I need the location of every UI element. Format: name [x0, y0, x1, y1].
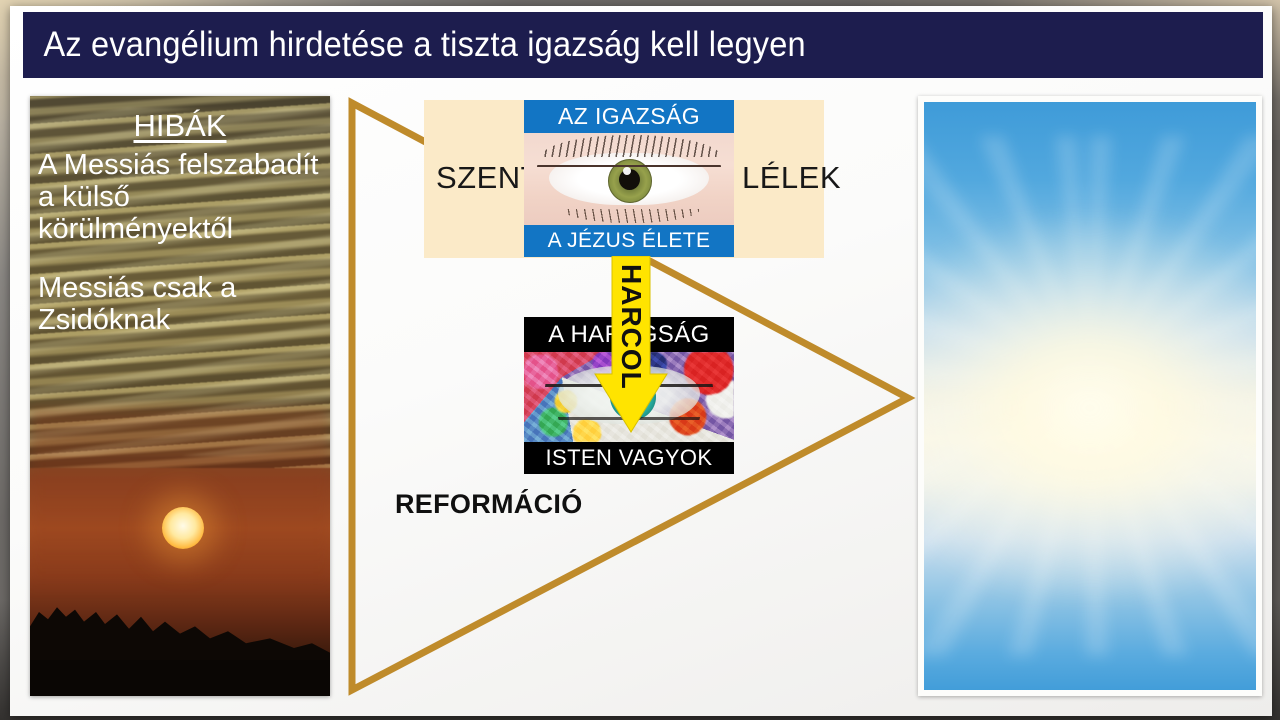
slide-title-bar: Az evangélium hirdetése a tiszta igazság… — [23, 12, 1263, 78]
left-panel-paragraph-2: Messiás csak a Zsidóknak — [38, 272, 322, 337]
band-isten-vagyok: ISTEN VAGYOK — [524, 442, 734, 474]
page-title: Az evangélium hirdetése a tiszta igazság… — [23, 25, 806, 65]
left-panel-heading: HIBÁK — [38, 110, 322, 143]
label-lelek: LÉLEK — [742, 160, 842, 196]
left-panel-paragraph-1: A Messiás felszabadít a külső körülménye… — [38, 149, 322, 246]
sunset-haze — [30, 408, 330, 588]
truth-eye-card: AZ IGAZSÁG A JÉZUS ÉLETE — [524, 100, 734, 257]
eye-lower-lashes — [562, 209, 701, 223]
ground-silhouette — [30, 660, 330, 696]
eye-lashes — [541, 135, 722, 157]
green-eye-photo — [524, 133, 734, 225]
label-szent: SZENT — [436, 160, 526, 196]
arrow-label-harcol: HARCOL — [615, 264, 647, 390]
sky-glow — [918, 218, 1262, 598]
right-image-panel — [918, 96, 1262, 696]
sun-disc-icon — [162, 507, 204, 549]
label-reformacio: REFORMÁCIÓ — [395, 489, 583, 520]
left-panel-text-block: HIBÁK A Messiás felszabadít a külső körü… — [30, 110, 330, 337]
eye-glint — [623, 167, 631, 175]
left-image-panel: HIBÁK A Messiás felszabadít a külső körü… — [30, 96, 330, 696]
band-az-igazsag: AZ IGAZSÁG — [524, 100, 734, 133]
band-a-jezus-elete: A JÉZUS ÉLETE — [524, 225, 734, 257]
presentation-slide: Az evangélium hirdetése a tiszta igazság… — [0, 0, 1280, 720]
